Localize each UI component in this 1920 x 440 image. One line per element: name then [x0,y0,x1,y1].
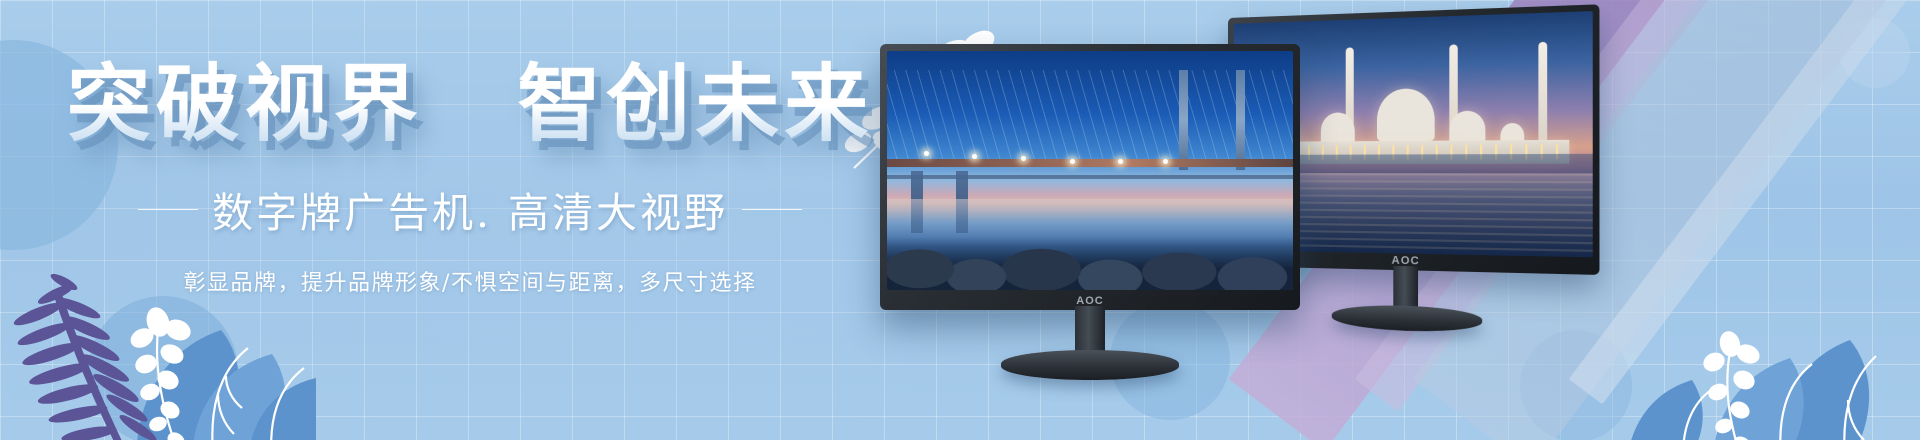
foreground-rocks [887,237,1293,290]
subtitle: 数字牌广告机. 高清大视野 [212,179,728,239]
monitor-stand-base [1332,303,1482,333]
leaf-vein-outline-icon [212,348,304,440]
product-monitors: AOC [880,0,1920,440]
monitor-screen [887,51,1293,290]
monitor-front: AOC [880,44,1300,384]
subtitle-rule-left [138,209,198,210]
dome [1449,111,1485,143]
street-lamp [1070,159,1075,164]
street-lamp [1163,159,1168,164]
white-floral-sprig-icon [127,304,194,440]
monitor-stand-base [1001,350,1179,380]
promo-banner: 突破视界 智创未来 数字牌广告机. 高清大视野 彰显品牌，提升品牌形象/不惧空间… [0,0,1920,440]
headline-part-1: 突破视界 [67,55,423,153]
banner-copy: 突破视界 智创未来 数字牌广告机. 高清大视野 彰显品牌，提升品牌形象/不惧空间… [0,60,940,297]
bridge-deck-shadow [887,175,1293,179]
screen-artwork-bridge [887,51,1293,290]
bridge-cables [887,70,1293,166]
tagline: 彰显品牌，提升品牌形象/不惧空间与距离，多尺寸选择 [0,265,940,297]
bridge-pylon [1179,70,1188,170]
monitor-stand-neck [1393,266,1418,311]
dome [1321,113,1355,144]
headline: 突破视界 智创未来 [0,60,940,149]
subtitle-row: 数字牌广告机. 高清大视野 [0,179,940,239]
monitor-bezel: AOC [880,44,1300,310]
decorative-circle [88,296,238,440]
headline-part-2: 智创未来 [517,55,873,153]
bridge-deck [887,159,1293,167]
subtitle-rule-right [742,209,802,210]
bridge-pylon [1236,70,1245,170]
dome [1377,88,1435,141]
monitor-stand-neck [1075,306,1105,356]
blue-leaf-cluster-icon [136,330,316,440]
